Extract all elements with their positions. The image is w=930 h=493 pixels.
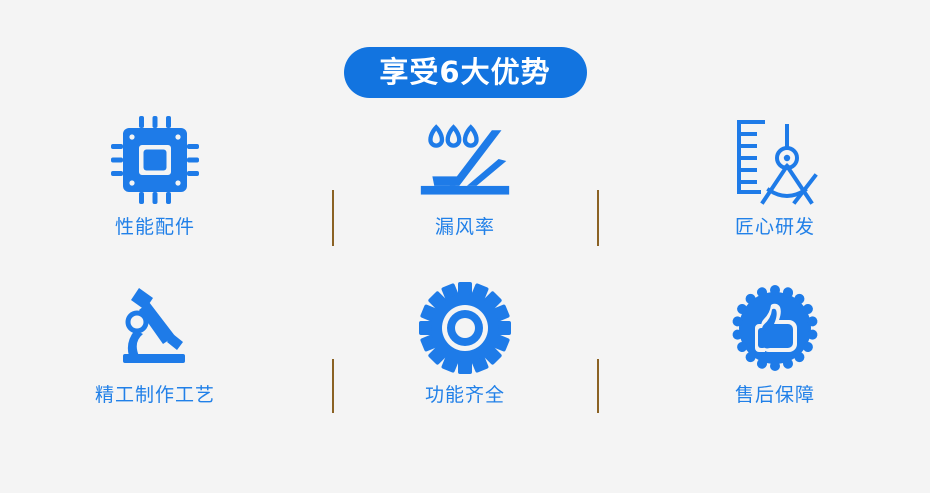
water-droplets-repellent-icon: [417, 112, 513, 208]
feature-label: 功能齐全: [425, 386, 505, 405]
feature-highlights-page: 享受6大优势: [0, 0, 930, 493]
feature-label: 精工制作工艺: [95, 386, 215, 405]
feature-item-rnd: 匠心研发: [620, 112, 930, 280]
feature-label: 售后保障: [735, 386, 815, 405]
header-pill: 享受6大优势: [344, 47, 587, 98]
feature-item-air-leakage: 漏风率: [310, 112, 620, 280]
divider-row2-col1: [332, 359, 334, 413]
feature-grid: 性能配件 漏风率: [0, 112, 930, 448]
header-banner: 享受6大优势: [0, 47, 930, 98]
ruler-compass-icon: [727, 112, 823, 208]
feature-item-performance-parts: 性能配件: [0, 112, 310, 280]
feature-item-craftsmanship: 精工制作工艺: [0, 280, 310, 448]
feature-item-full-function: 功能齐全: [310, 280, 620, 448]
thumbs-up-badge-icon: [727, 280, 823, 376]
feature-label: 匠心研发: [735, 218, 815, 237]
page-title: 享受6大优势: [379, 58, 550, 87]
cpu-chip-icon: [107, 112, 203, 208]
microscope-icon: [107, 280, 203, 376]
divider-row2-col2: [597, 359, 599, 413]
feature-label: 漏风率: [435, 218, 495, 237]
divider-row1-col1: [332, 190, 334, 246]
feature-item-after-sales: 售后保障: [620, 280, 930, 448]
divider-row1-col2: [597, 190, 599, 246]
gear-icon: [417, 280, 513, 376]
feature-label: 性能配件: [115, 218, 195, 237]
